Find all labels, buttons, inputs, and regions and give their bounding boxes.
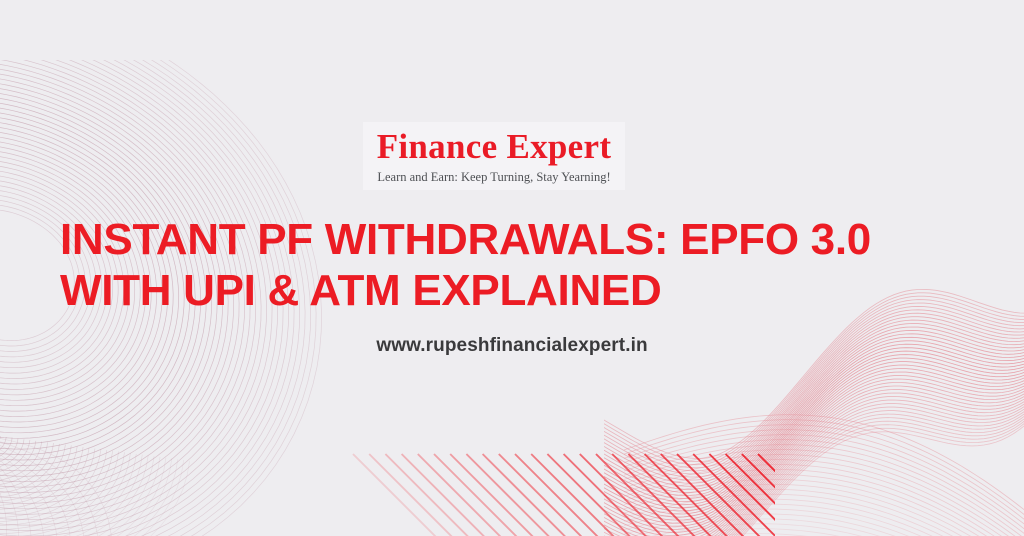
- promo-banner: Finance Expert Learn and Earn: Keep Turn…: [0, 0, 1024, 536]
- brand-logo-block: Finance Expert Learn and Earn: Keep Turn…: [363, 122, 625, 190]
- flowing-line-band-icon: [604, 120, 1024, 536]
- brand-title: Finance Expert: [377, 128, 612, 166]
- page-title: INSTANT PF WITHDRAWALS: EPFO 3.0 WITH UP…: [60, 214, 980, 316]
- website-url: www.rupeshfinancialexpert.in: [0, 334, 1024, 358]
- brand-tagline: Learn and Earn: Keep Turning, Stay Yearn…: [377, 169, 610, 185]
- diagonal-hatch-stripes-icon: [345, 452, 775, 536]
